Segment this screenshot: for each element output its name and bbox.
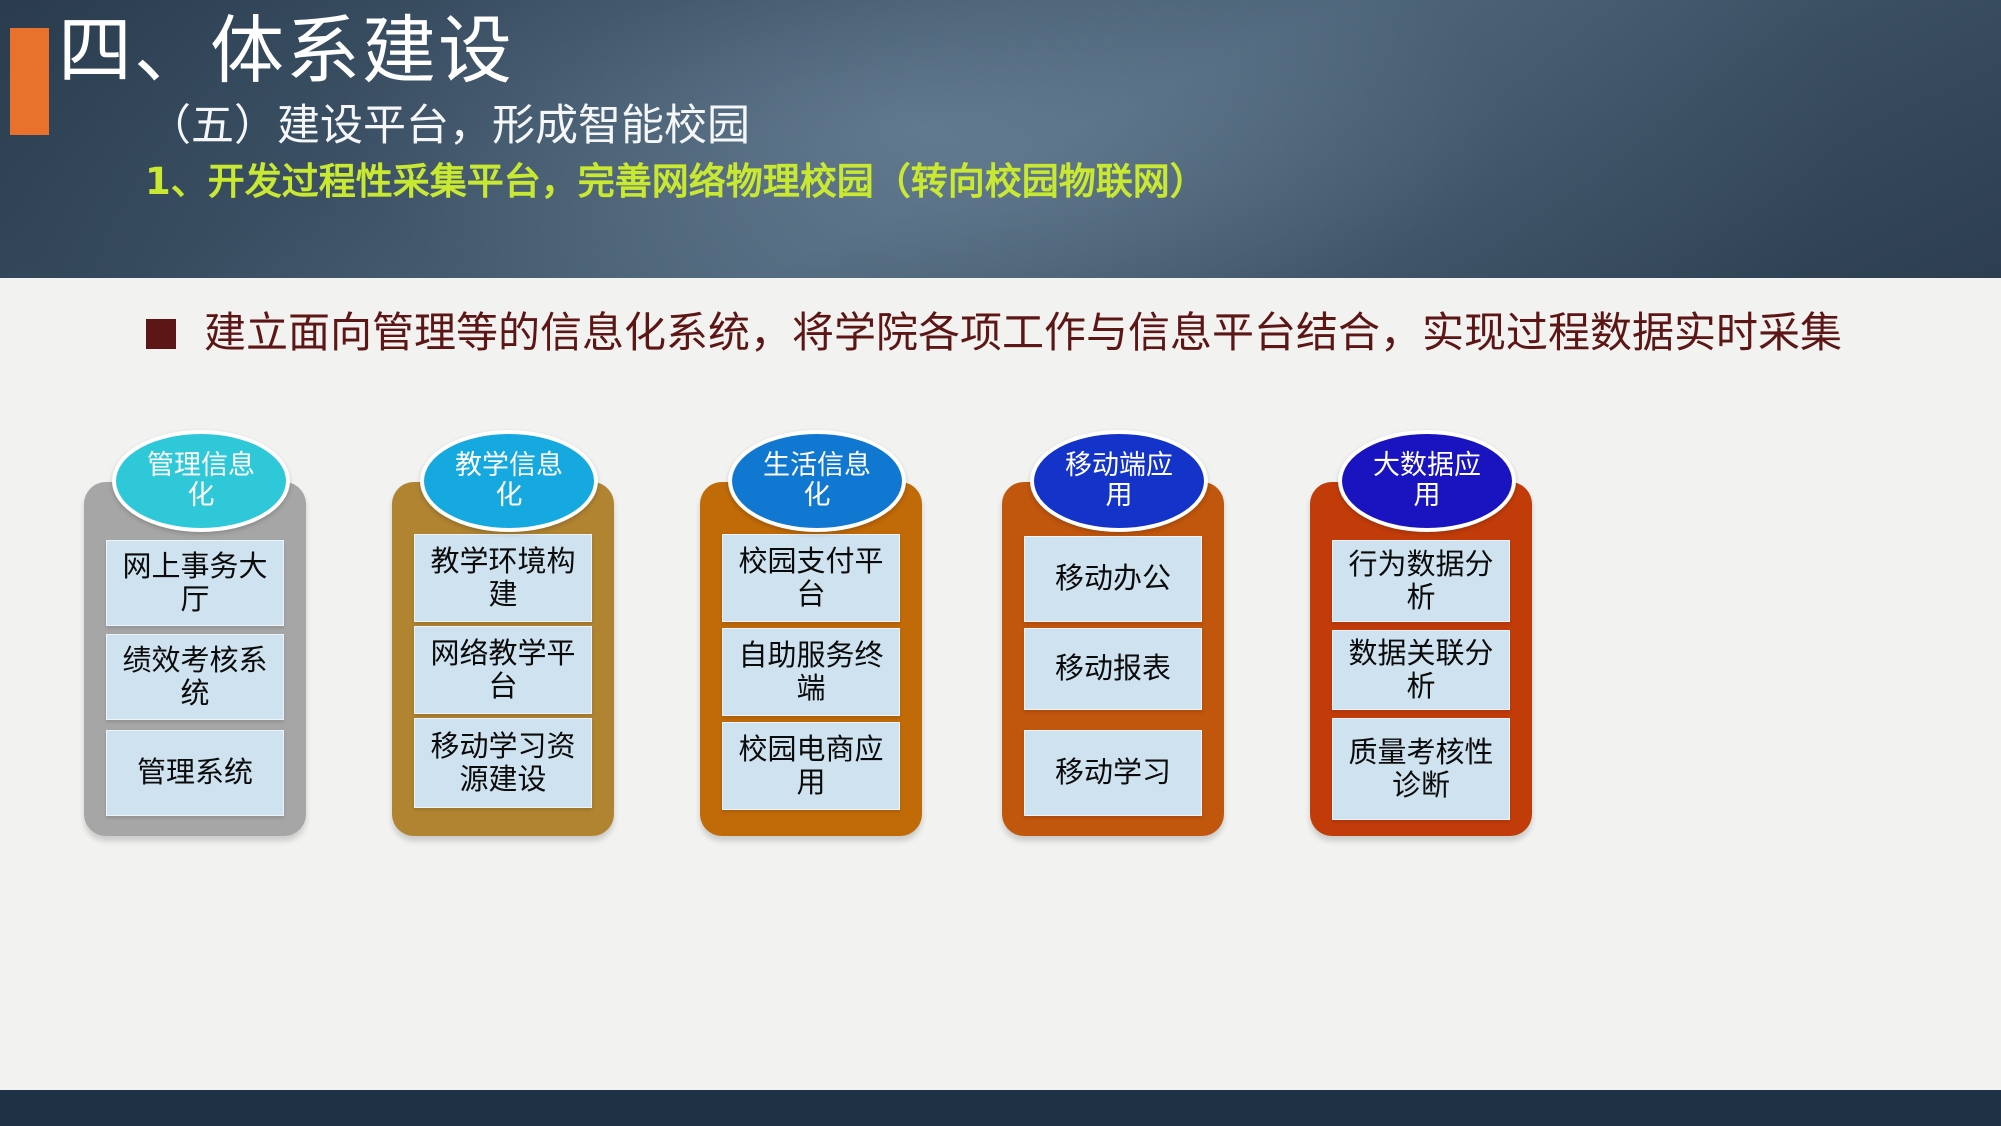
column-item-label: 质量考核性诊断 (1346, 736, 1496, 802)
column-item-box[interactable]: 行为数据分析 (1332, 540, 1510, 622)
bullet-text: 建立面向管理等的信息化系统，将学院各项工作与信息平台结合，实现过程数据实时采集 (204, 300, 1904, 365)
column-item-label: 移动办公 (1038, 562, 1188, 595)
column-item-label: 网络教学平台 (428, 637, 578, 703)
column-item-label: 校园支付平台 (736, 545, 886, 611)
page-subtitle: （五）建设平台，形成智能校园 (148, 105, 750, 148)
column-item-box[interactable]: 移动学习 (1024, 730, 1202, 816)
diagram-column: 网上事务大厅绩效考核系统管理系统管理信息化 (70, 430, 362, 1060)
column-item-label: 绩效考核系统 (120, 644, 270, 710)
page-title: 四、体系建设 (58, 14, 514, 88)
column-header-ellipse[interactable]: 生活信息化 (728, 430, 906, 532)
column-item-box[interactable]: 网上事务大厅 (106, 540, 284, 626)
orange-accent-bar (10, 28, 49, 135)
column-header-ellipse[interactable]: 大数据应用 (1338, 430, 1516, 532)
column-item-label: 移动报表 (1038, 652, 1188, 685)
column-item-box[interactable]: 自助服务终端 (722, 628, 900, 716)
column-item-label: 数据关联分析 (1346, 637, 1496, 703)
column-item-label: 校园电商应用 (736, 733, 886, 799)
column-item-label: 移动学习资源建设 (428, 730, 578, 796)
diagram-column: 教学环境构建网络教学平台移动学习资源建设教学信息化 (378, 430, 670, 1060)
diagram-columns: 网上事务大厅绩效考核系统管理系统管理信息化教学环境构建网络教学平台移动学习资源建… (0, 430, 2001, 1070)
column-item-label: 网上事务大厅 (120, 550, 270, 616)
column-header-label: 管理信息化 (136, 451, 266, 511)
column-item-label: 行为数据分析 (1346, 548, 1496, 614)
diagram-column: 行为数据分析数据关联分析质量考核性诊断大数据应用 (1296, 430, 1588, 1060)
column-item-box[interactable]: 校园支付平台 (722, 534, 900, 622)
column-header-label: 生活信息化 (752, 451, 882, 511)
footer-bar (0, 1090, 2001, 1126)
column-header-label: 教学信息化 (444, 451, 574, 511)
slide-header: 四、体系建设 （五）建设平台，形成智能校园 1、开发过程性采集平台，完善网络物理… (0, 0, 2001, 278)
diagram-column: 校园支付平台自助服务终端校园电商应用生活信息化 (686, 430, 978, 1060)
column-header-ellipse[interactable]: 移动端应用 (1030, 430, 1208, 532)
column-item-box[interactable]: 移动办公 (1024, 536, 1202, 622)
column-item-box[interactable]: 管理系统 (106, 730, 284, 816)
column-item-box[interactable]: 移动报表 (1024, 628, 1202, 710)
column-item-box[interactable]: 绩效考核系统 (106, 634, 284, 720)
column-item-box[interactable]: 质量考核性诊断 (1332, 718, 1510, 820)
column-header-label: 大数据应用 (1362, 451, 1492, 511)
diagram-column: 移动办公移动报表移动学习移动端应用 (988, 430, 1280, 1060)
bullet-block: 建立面向管理等的信息化系统，将学院各项工作与信息平台结合，实现过程数据实时采集 (118, 300, 1938, 365)
column-item-box[interactable]: 网络教学平台 (414, 626, 592, 714)
column-item-label: 管理系统 (120, 756, 270, 789)
column-item-box[interactable]: 数据关联分析 (1332, 630, 1510, 710)
column-item-label: 自助服务终端 (736, 639, 886, 705)
column-item-box[interactable]: 移动学习资源建设 (414, 718, 592, 808)
column-header-label: 移动端应用 (1054, 451, 1184, 511)
column-item-box[interactable]: 教学环境构建 (414, 534, 592, 622)
bullet-square-icon (146, 319, 176, 349)
page-subtitle-highlight: 1、开发过程性采集平台，完善网络物理校园（转向校园物联网） (145, 163, 1207, 200)
column-header-ellipse[interactable]: 管理信息化 (112, 430, 290, 532)
column-item-box[interactable]: 校园电商应用 (722, 722, 900, 810)
column-header-ellipse[interactable]: 教学信息化 (420, 430, 598, 532)
column-item-label: 移动学习 (1038, 756, 1188, 789)
column-item-label: 教学环境构建 (428, 545, 578, 611)
